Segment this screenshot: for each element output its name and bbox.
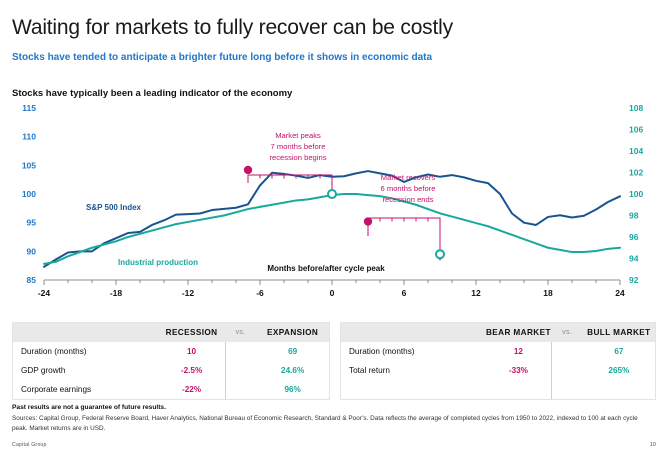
row-bull-value: 67	[583, 347, 655, 356]
header-bear-market: BEAR MARKET	[485, 328, 551, 337]
table-row: Duration (months) 12 67	[341, 342, 655, 361]
x-axis-tick-label: 12	[471, 288, 481, 298]
annotation-bracket-market-recovers	[368, 218, 440, 255]
x-axis-title: Months before/after cycle peak	[267, 264, 385, 273]
slide-root: Waiting for markets to fully recover can…	[0, 0, 668, 460]
left-axis-tick-label: 90	[27, 246, 37, 256]
right-axis-tick-label: 92	[629, 275, 639, 285]
annotation-text-market-recovers-line1: Market recovers	[381, 173, 436, 182]
row-label: GDP growth	[13, 366, 158, 375]
row-label: Total return	[341, 366, 485, 375]
header-vs: vs.	[551, 329, 582, 336]
chart-title: Stocks have typically been a leading ind…	[12, 88, 292, 99]
table-row: Duration (months) 10 69	[13, 342, 329, 361]
marker-market-trough	[364, 217, 372, 225]
x-axis-tick-label: 6	[402, 288, 407, 298]
recession-expansion-table: RECESSION vs. EXPANSION Duration (months…	[12, 322, 330, 400]
table-row-spacer	[341, 380, 655, 399]
table-row: Corporate earnings -22% 96%	[13, 380, 329, 399]
row-expansion-value: 96%	[256, 385, 329, 394]
row-recession-value: 10	[158, 347, 224, 356]
header-expansion: EXPANSION	[256, 328, 329, 337]
sources-text: Sources: Capital Group, Federal Reserve …	[12, 414, 646, 433]
line-chart: -24-18-12-606121824Months before/after c…	[0, 100, 668, 305]
x-axis-tick-label: -18	[110, 288, 123, 298]
table-row: GDP growth -2.5% 24.6%	[13, 361, 329, 380]
row-label: Duration (months)	[341, 347, 485, 356]
row-bear-value: -33%	[485, 366, 551, 375]
right-axis-tick-label: 96	[629, 232, 639, 242]
chart-area: -24-18-12-606121824Months before/after c…	[0, 100, 668, 305]
x-axis-tick-label: 24	[615, 288, 625, 298]
brand-footer: Capital Group	[12, 442, 47, 448]
right-axis-tick-label: 102	[629, 168, 643, 178]
annotation-text-market-peak-line1: Market peaks	[275, 131, 321, 140]
annotation-text-market-recovers-line2: 6 months before	[381, 184, 436, 193]
marker-recession-ends	[436, 250, 444, 258]
table-body: Duration (months) 12 67 Total return -33…	[341, 342, 655, 399]
right-axis-tick-label: 100	[629, 189, 643, 199]
bear-bull-table: BEAR MARKET vs. BULL MARKET Duration (mo…	[340, 322, 656, 400]
row-expansion-value: 24.6%	[256, 366, 329, 375]
row-label: Duration (months)	[13, 347, 158, 356]
left-axis-tick-label: 95	[27, 218, 37, 228]
right-axis-tick-label: 104	[629, 146, 643, 156]
table-body: Duration (months) 10 69 GDP growth -2.5%…	[13, 342, 329, 399]
right-axis-tick-label: 94	[629, 254, 639, 264]
right-axis-tick-label: 106	[629, 125, 643, 135]
annotation-bracket-market-peak	[248, 175, 332, 191]
table-row: Total return -33% 265%	[341, 361, 655, 380]
x-axis-tick-label: 0	[330, 288, 335, 298]
x-axis-tick-label: -12	[182, 288, 195, 298]
row-label: Corporate earnings	[13, 385, 158, 394]
row-recession-value: -22%	[158, 385, 224, 394]
right-axis-tick-label: 108	[629, 103, 643, 113]
right-axis-tick-label: 98	[629, 211, 639, 221]
page-subtitle: Stocks have tended to anticipate a brigh…	[12, 52, 432, 63]
annotation-text-market-peak-line3: recession begins	[270, 153, 327, 162]
row-bull-value: 265%	[583, 366, 655, 375]
left-axis-tick-label: 110	[22, 132, 36, 142]
table-header-row: RECESSION vs. EXPANSION	[13, 323, 329, 342]
series-label-sp500: S&P 500 Index	[86, 203, 142, 212]
header-recession: RECESSION	[158, 328, 224, 337]
left-axis-tick-label: 115	[22, 103, 36, 113]
series-label-industrial-production: Industrial production	[118, 258, 198, 267]
left-axis-tick-label: 105	[22, 160, 36, 170]
header-vs: vs.	[225, 329, 257, 336]
disclaimer-text: Past results are not a guarantee of futu…	[12, 404, 166, 411]
left-axis-tick-label: 85	[27, 275, 37, 285]
page-number: 10	[650, 442, 656, 448]
left-axis-tick-label: 100	[22, 189, 36, 199]
x-axis-tick-label: 18	[543, 288, 553, 298]
annotation-text-market-peak-line2: 7 months before	[271, 142, 326, 151]
marker-recession-begins	[328, 190, 336, 198]
row-bear-value: 12	[485, 347, 551, 356]
x-axis-tick-label: -24	[38, 288, 51, 298]
row-expansion-value: 69	[256, 347, 329, 356]
table-header-row: BEAR MARKET vs. BULL MARKET	[341, 323, 655, 342]
annotation-text-market-recovers-line3: recession ends	[382, 195, 433, 204]
row-recession-value: -2.5%	[158, 366, 224, 375]
header-bull-market: BULL MARKET	[583, 328, 655, 337]
marker-market-peak	[244, 166, 252, 174]
x-axis-tick-label: -6	[256, 288, 264, 298]
page-title: Waiting for markets to fully recover can…	[12, 16, 453, 40]
